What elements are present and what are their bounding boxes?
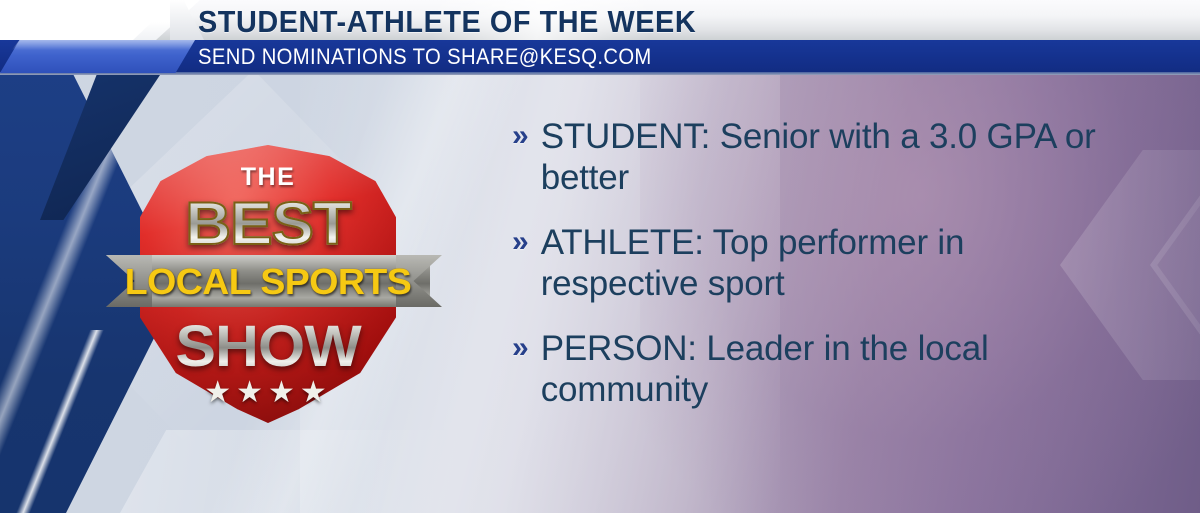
logo-star-rating: ★★★★ (118, 375, 418, 410)
double-chevron-icon: » (512, 222, 529, 262)
list-item-text: PERSON: Leader in the local community (541, 328, 1112, 410)
list-item-text: ATHLETE: Top performer in respective spo… (541, 222, 1112, 304)
header-left-blue-highlight (0, 40, 195, 50)
logo-line-show: SHOW (111, 313, 426, 380)
logo-line-local-sports: LOCAL SPORTS (112, 261, 424, 303)
list-item: » PERSON: Leader in the local community (512, 328, 1112, 410)
broadcast-graphic: STUDENT-ATHLETE OF THE WEEK SEND NOMINAT… (0, 0, 1200, 513)
criteria-list: » STUDENT: Senior with a 3.0 GPA or bett… (512, 116, 1112, 434)
page-title: STUDENT-ATHLETE OF THE WEEK (198, 4, 696, 40)
logo-line-the: THE (118, 163, 418, 192)
bottom-left-light-band (120, 430, 450, 513)
double-chevron-icon: » (512, 328, 529, 368)
double-chevron-icon: » (512, 116, 529, 156)
best-local-sports-show-logo: THE BEST LOCAL SPORTS SHOW ★★★★ (118, 137, 418, 437)
header-banner: STUDENT-ATHLETE OF THE WEEK SEND NOMINAT… (0, 0, 1200, 80)
list-item: » ATHLETE: Top performer in respective s… (512, 222, 1112, 304)
list-item: » STUDENT: Senior with a 3.0 GPA or bett… (512, 116, 1112, 198)
header-subtitle: SEND NOMINATIONS TO SHARE@KESQ.COM (198, 44, 652, 70)
logo-line-best: BEST (109, 189, 427, 258)
list-item-text: STUDENT: Senior with a 3.0 GPA or better (541, 116, 1112, 198)
